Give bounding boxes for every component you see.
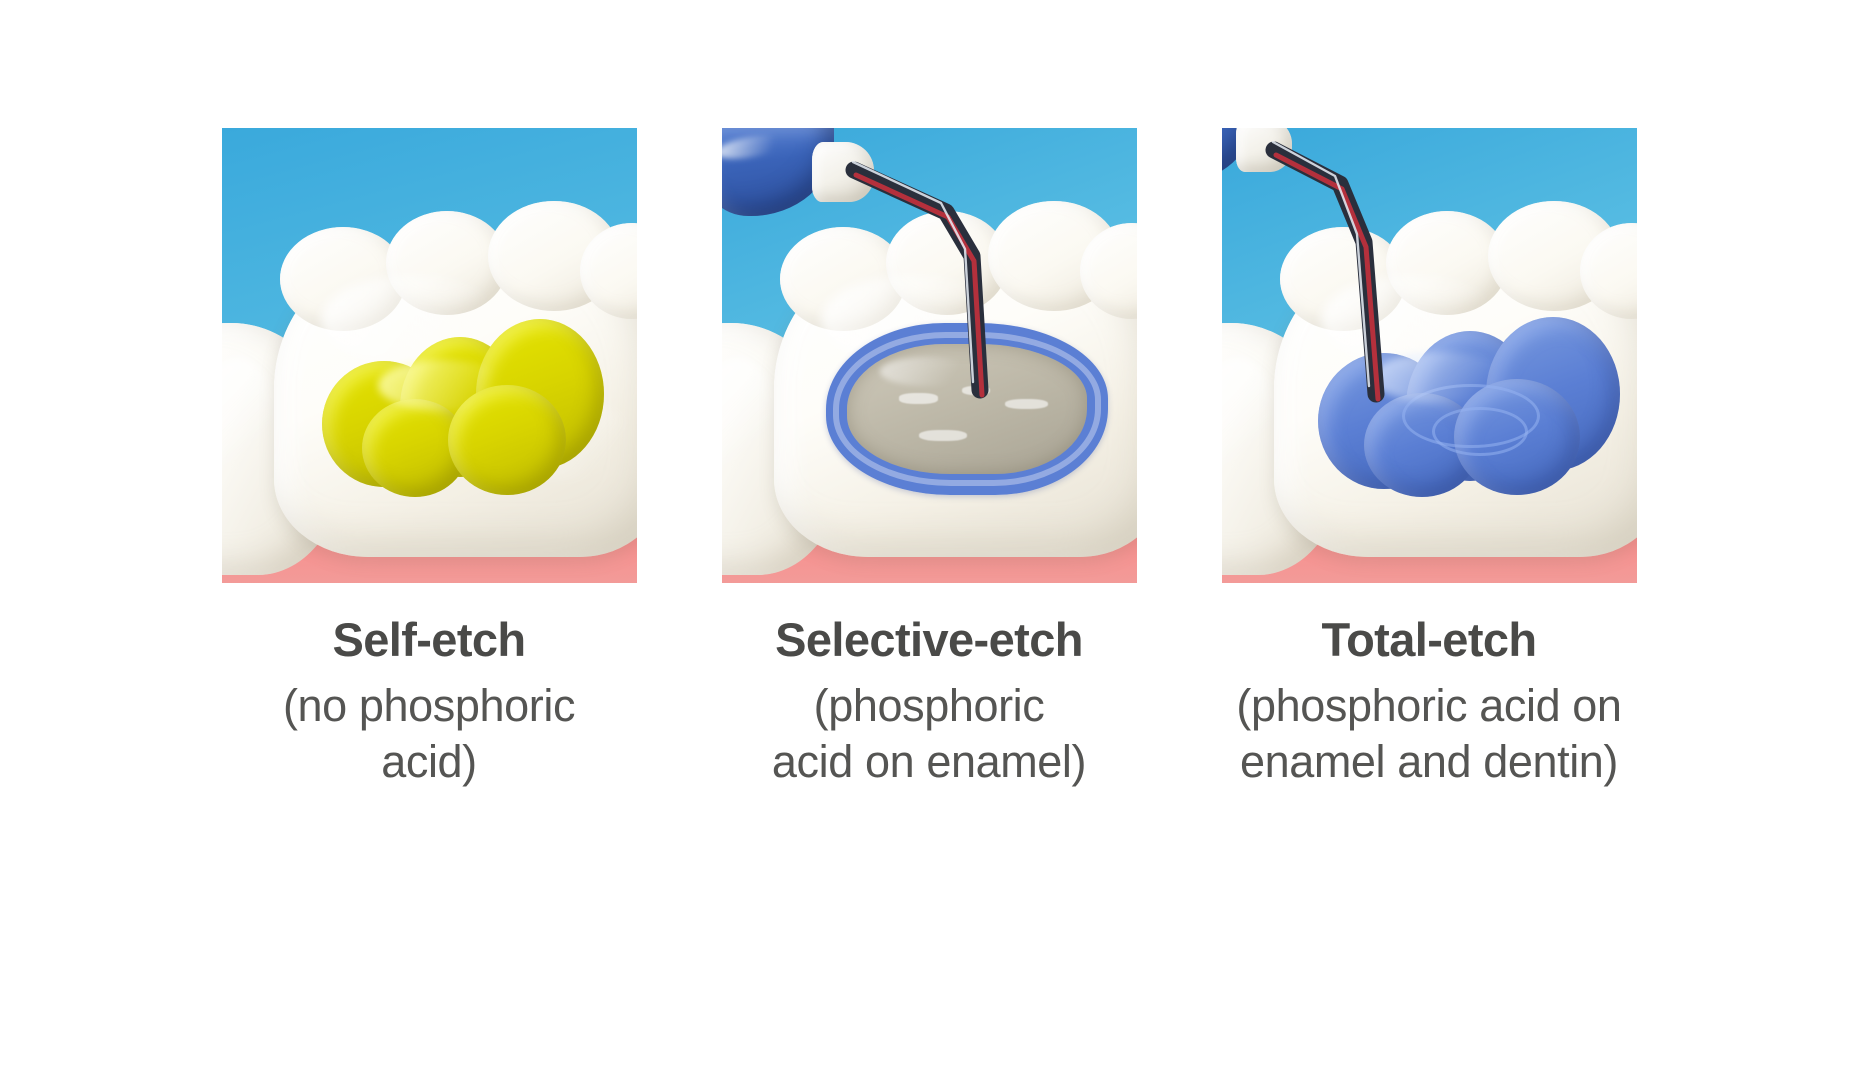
subtitle-line-2: acid)	[381, 736, 477, 787]
subtitle-line-1: (no phosphoric	[283, 680, 575, 731]
dentin-texture	[1005, 399, 1048, 409]
panel-title: Selective-etch	[699, 615, 1159, 666]
self-etch-adhesive	[318, 313, 618, 509]
etching-techniques-figure: Self-etch (no phosphoric acid)	[0, 0, 1858, 1084]
panel-subtitle: (phosphoric acid on enamel)	[699, 678, 1159, 791]
illustration-selective-etch	[722, 128, 1137, 583]
subtitle-line-2: acid on enamel)	[772, 736, 1086, 787]
panel-title: Self-etch	[209, 615, 649, 666]
subtitle-line-1: (phosphoric acid on	[1236, 680, 1621, 731]
etchant-syringe	[1222, 128, 1400, 244]
dentin-texture	[899, 393, 937, 403]
etchant-highlight	[378, 360, 510, 411]
syringe-nozzle	[1236, 128, 1292, 172]
panel-subtitle: (phosphoric acid on enamel and dentin)	[1169, 678, 1689, 791]
etchant-swirl	[1432, 407, 1528, 456]
illustration-self-etch	[222, 128, 637, 583]
total-etch-application	[1318, 313, 1618, 509]
illustration-total-etch	[1222, 128, 1637, 583]
panel-subtitle: (no phosphoric acid)	[209, 678, 649, 791]
dentin-texture	[919, 430, 967, 442]
syringe-barrel	[1222, 128, 1254, 182]
subtitle-line-2: enamel and dentin)	[1240, 736, 1618, 787]
dentin-texture	[962, 386, 991, 395]
syringe-barrel	[722, 128, 834, 216]
syringe-nozzle	[812, 142, 874, 202]
etchant-highlight	[1372, 352, 1510, 403]
panel-self-etch: Self-etch (no phosphoric acid)	[222, 128, 637, 791]
panel-total-etch: Total-etch (phosphoric acid on enamel an…	[1222, 128, 1637, 791]
etchant-syringe	[722, 128, 900, 244]
caption-total-etch: Total-etch (phosphoric acid on enamel an…	[1169, 615, 1689, 791]
caption-self-etch: Self-etch (no phosphoric acid)	[209, 615, 649, 791]
subtitle-line-1: (phosphoric	[814, 680, 1045, 731]
panel-selective-etch: Selective-etch (phosphoric acid on ename…	[722, 128, 1137, 791]
selective-etch-application	[818, 313, 1118, 509]
panel-title: Total-etch	[1169, 615, 1689, 666]
enamel-margin-etchant-band	[826, 323, 1108, 495]
caption-selective-etch: Selective-etch (phosphoric acid on ename…	[699, 615, 1159, 791]
